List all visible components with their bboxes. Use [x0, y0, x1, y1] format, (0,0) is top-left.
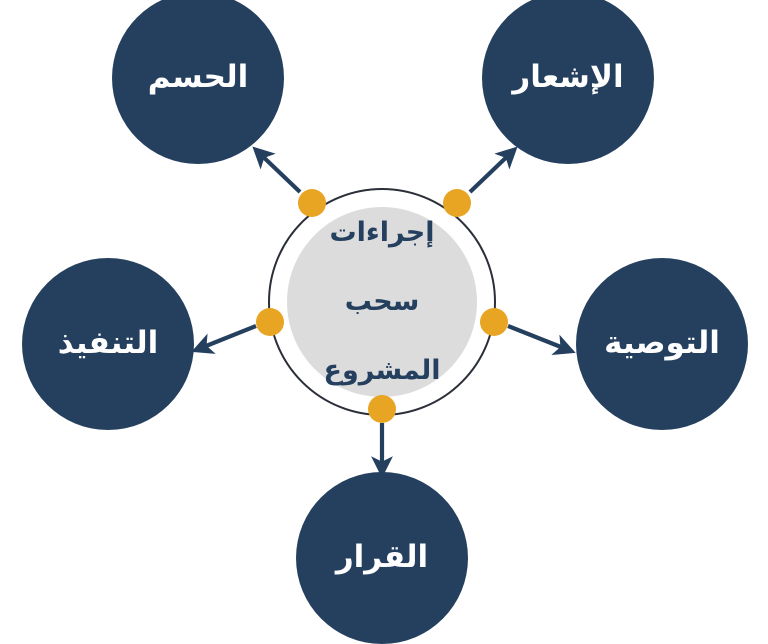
diagram-canvas: إجراءات سحب المشروع الحسم الإشعار التنفي…	[0, 0, 768, 644]
connector-dot-notice[interactable]	[443, 189, 471, 217]
arrow-to-recommendation	[508, 326, 571, 351]
node-decision[interactable]: القرار	[296, 472, 468, 644]
hub-label: إجراءات سحب المشروع	[324, 181, 441, 423]
connector-dot-execution[interactable]	[256, 308, 284, 336]
connector-dot-settlement[interactable]	[298, 189, 326, 217]
arrow-to-execution	[196, 326, 256, 350]
node-execution[interactable]: التنفيذ	[22, 258, 194, 430]
node-settlement[interactable]: الحسم	[112, 0, 284, 164]
node-notice[interactable]: الإشعار	[482, 0, 654, 164]
node-recommendation[interactable]: التوصية	[576, 258, 748, 430]
hub-center: إجراءات سحب المشروع	[287, 207, 477, 397]
node-execution-label: التنفيذ	[58, 326, 158, 362]
node-settlement-label: الحسم	[148, 60, 248, 96]
hub-label-line-1: إجراءات	[324, 216, 441, 251]
arrow-to-settlement	[256, 150, 300, 192]
connector-dot-recommendation[interactable]	[480, 308, 508, 336]
node-decision-label: القرار	[336, 540, 428, 576]
hub-label-line-3: المشروع	[324, 354, 441, 389]
node-recommendation-label: التوصية	[604, 326, 720, 362]
arrow-to-notice	[470, 150, 514, 192]
node-notice-label: الإشعار	[512, 60, 623, 96]
connector-dot-decision[interactable]	[368, 395, 396, 423]
hub-label-line-2: سحب	[324, 285, 441, 320]
